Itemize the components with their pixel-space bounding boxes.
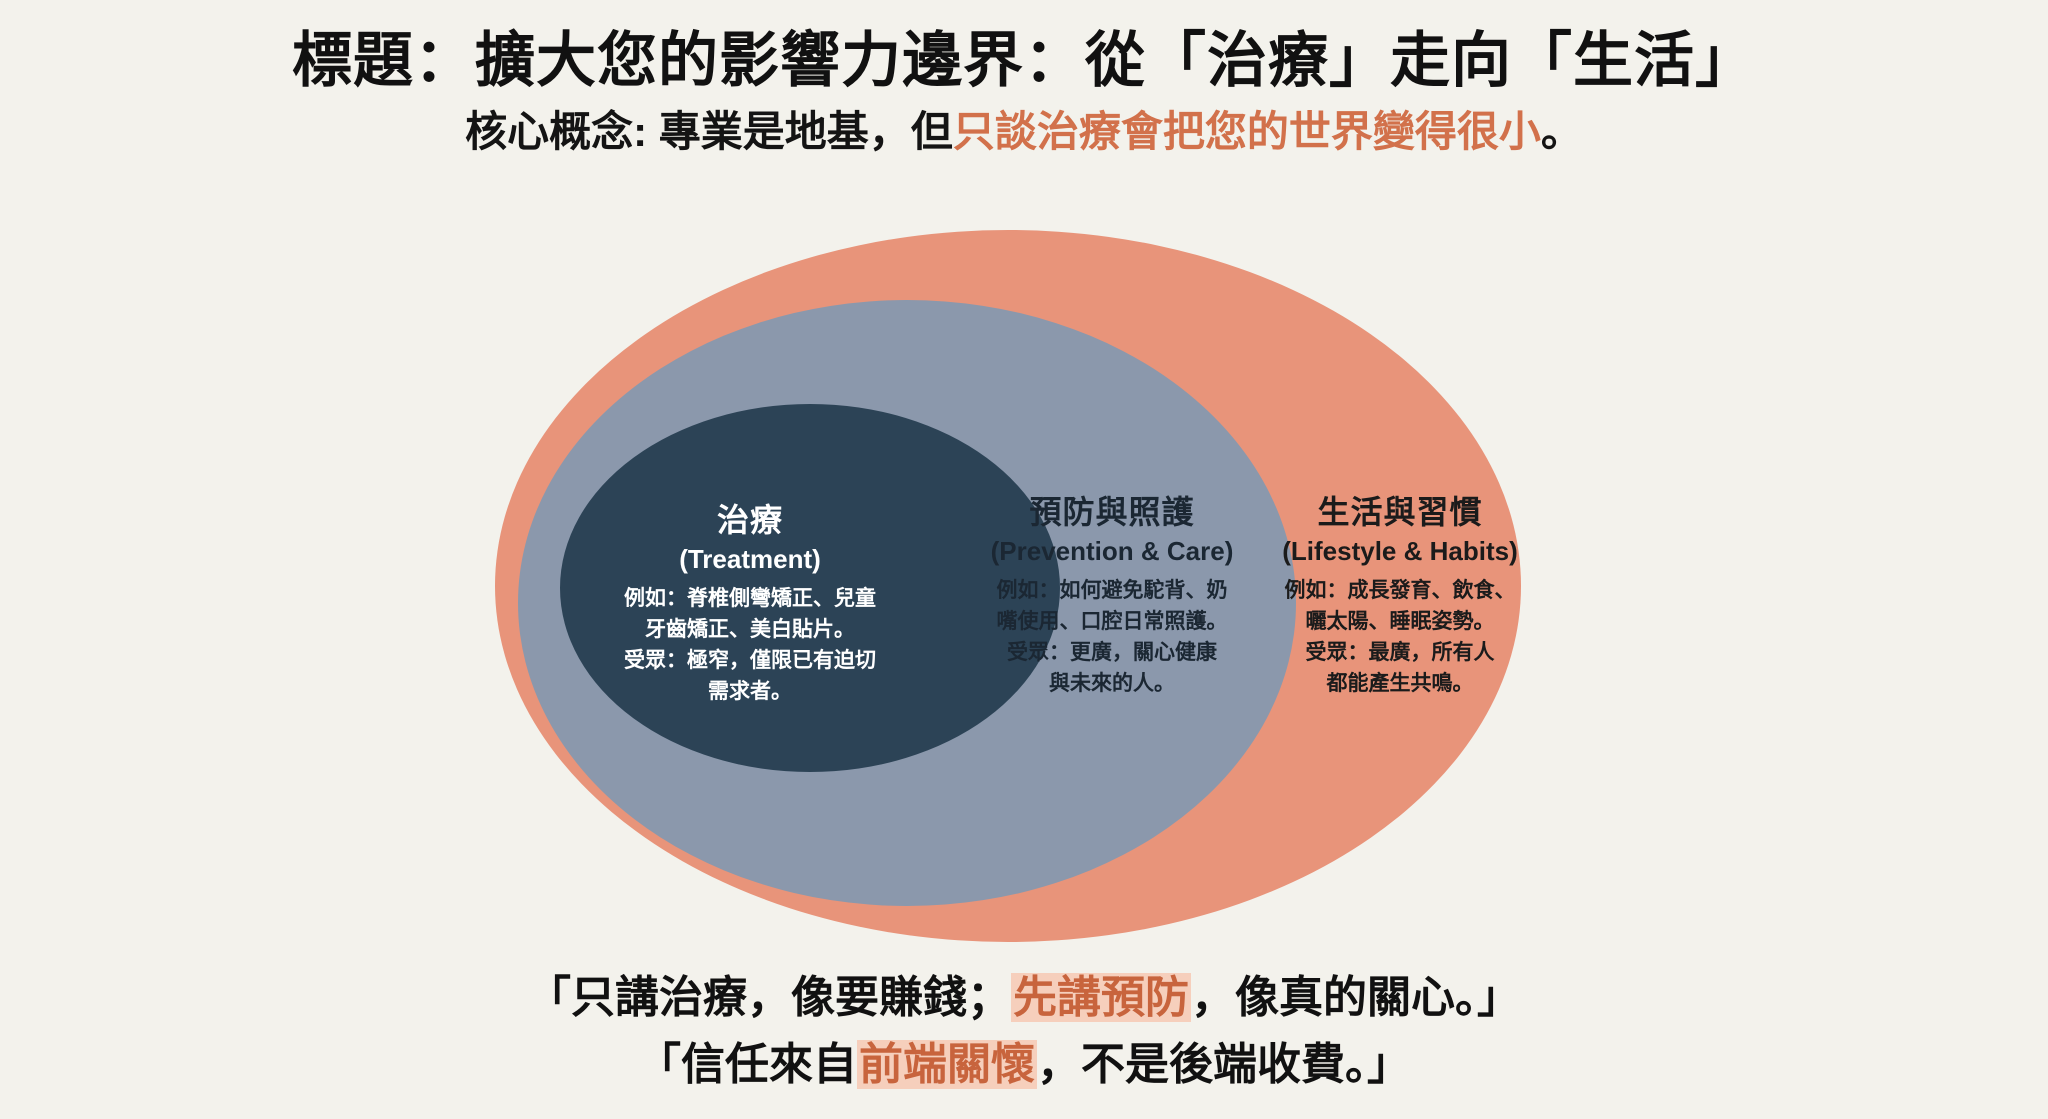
quote2-highlight: 前端關懷 xyxy=(857,1040,1037,1089)
quote1-highlight: 先講預防 xyxy=(1011,973,1191,1022)
zone-lifestyle-body-line: 例如：成長發育、飲食、 xyxy=(1270,575,1530,606)
quote2-post: ，不是後端收費。」 xyxy=(1037,1040,1411,1089)
zone-lifestyle-body: 例如：成長發育、飲食、 曬太陽、睡眠姿勢。 受眾：最廣，所有人 都能產生共鳴。 xyxy=(1270,575,1530,699)
quote1-pre: 「只講治療，像要賺錢； xyxy=(527,973,1011,1022)
zone-treatment-body-line: 需求者。 xyxy=(600,676,900,707)
footer-quotes: 「只講治療，像要賺錢；先講預防，像真的關心。」 「信任來自前端關懷，不是後端收費… xyxy=(0,965,2048,1099)
zone-prevention-title: 預防與照護 xyxy=(972,492,1252,533)
zone-treatment-body-line: 例如：脊椎側彎矯正、兒童 xyxy=(600,583,900,614)
zone-prevention-body-line: 例如：如何避免駝背、奶 xyxy=(972,575,1252,606)
zone-lifestyle-body-line: 受眾：最廣，所有人 xyxy=(1270,637,1530,668)
zone-label-treatment: 治療 (Treatment) 例如：脊椎側彎矯正、兒童 牙齒矯正、美白貼片。 受… xyxy=(600,500,900,708)
zone-prevention-body-line: 受眾：更廣，關心健康 xyxy=(972,637,1252,668)
zone-lifestyle-title: 生活與習慣 xyxy=(1270,492,1530,533)
quote-line-1: 「只講治療，像要賺錢；先講預防，像真的關心。」 xyxy=(0,965,2048,1032)
zone-prevention-body-line: 與未來的人。 xyxy=(972,668,1252,699)
nested-venn-diagram: 治療 (Treatment) 例如：脊椎側彎矯正、兒童 牙齒矯正、美白貼片。 受… xyxy=(0,0,2048,1119)
zone-lifestyle-subtitle: (Lifestyle & Habits) xyxy=(1270,535,1530,568)
zone-treatment-title: 治療 xyxy=(600,500,900,541)
quote2-pre: 「信任來自 xyxy=(637,1040,857,1089)
zone-label-prevention: 預防與照護 (Prevention & Care) 例如：如何避免駝背、奶 嘴使… xyxy=(972,492,1252,700)
zone-prevention-body: 例如：如何避免駝背、奶 嘴使用、口腔日常照護。 受眾：更廣，關心健康 與未來的人… xyxy=(972,575,1252,699)
zone-prevention-body-line: 嘴使用、口腔日常照護。 xyxy=(972,606,1252,637)
zone-treatment-body: 例如：脊椎側彎矯正、兒童 牙齒矯正、美白貼片。 受眾：極窄，僅限已有迫切 需求者… xyxy=(600,583,900,707)
zone-lifestyle-body-line: 都能產生共鳴。 xyxy=(1270,668,1530,699)
zone-label-lifestyle: 生活與習慣 (Lifestyle & Habits) 例如：成長發育、飲食、 曬… xyxy=(1270,492,1530,700)
zone-treatment-body-line: 牙齒矯正、美白貼片。 xyxy=(600,614,900,645)
quote1-post: ，像真的關心。」 xyxy=(1191,973,1521,1022)
zone-lifestyle-body-line: 曬太陽、睡眠姿勢。 xyxy=(1270,606,1530,637)
zone-treatment-subtitle: (Treatment) xyxy=(600,543,900,576)
zone-treatment-body-line: 受眾：極窄，僅限已有迫切 xyxy=(600,645,900,676)
zone-prevention-subtitle: (Prevention & Care) xyxy=(972,535,1252,568)
quote-line-2: 「信任來自前端關懷，不是後端收費。」 xyxy=(0,1032,2048,1099)
